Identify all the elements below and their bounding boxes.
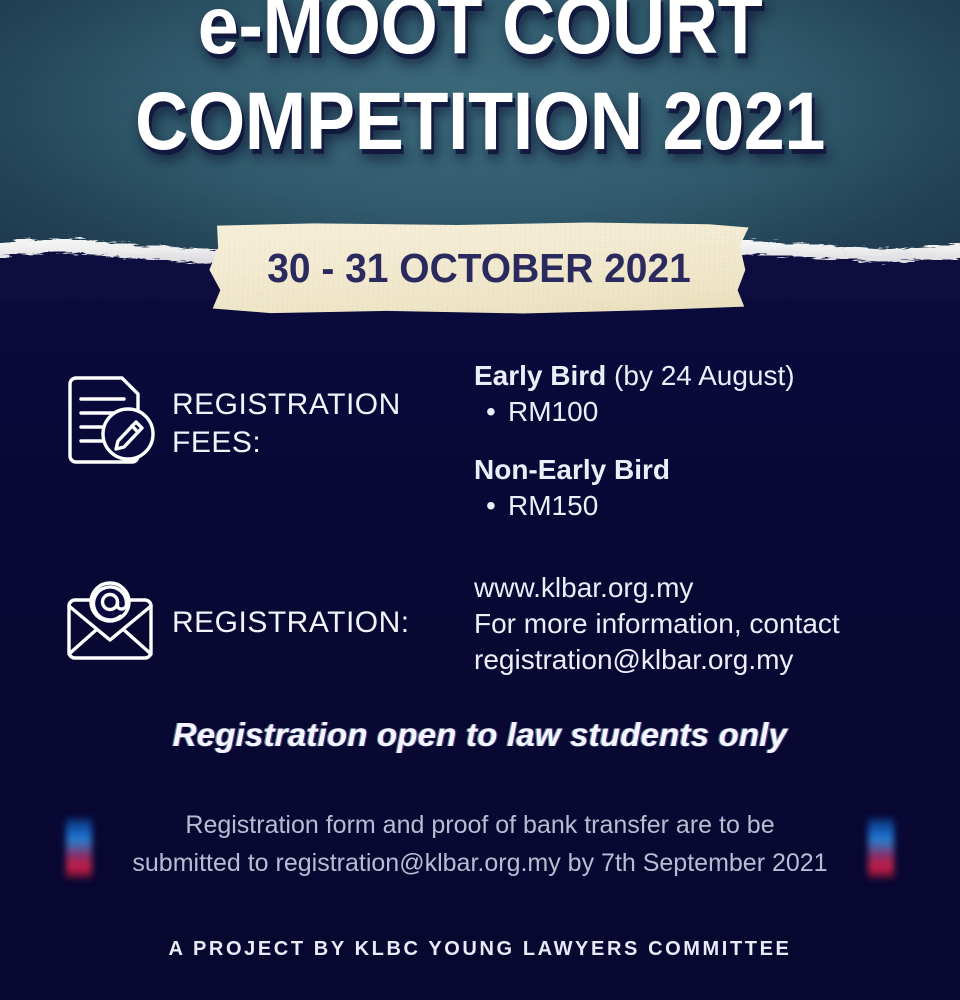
registration-fees-label-group: REGISTRATION FEES: xyxy=(62,372,401,476)
title-line-2: COMPETITION 2021 xyxy=(48,74,912,170)
fees-spacer xyxy=(474,430,795,452)
registration-label-group: REGISTRATION: xyxy=(62,578,410,668)
non-early-bird-label: Non-Early Bird xyxy=(474,452,795,488)
fees-details: Early Bird (by 24 August) RM100 Non-Earl… xyxy=(474,358,795,524)
date-banner: 30 - 31 OCTOBER 2021 xyxy=(205,222,753,314)
right-gradient-bar-decoration xyxy=(868,818,894,878)
footer-credit: A PROJECT BY KLBC YOUNG LAWYERS COMMITTE… xyxy=(0,938,960,961)
early-bird-price: RM100 xyxy=(474,394,795,430)
registration-contact-prompt: For more information, contact xyxy=(474,606,840,642)
submission-note: Registration form and proof of bank tran… xyxy=(0,806,960,882)
poster: e-MOOT COURT COMPETITION 2021 30 - 31 OC… xyxy=(0,0,960,1000)
registration-website[interactable]: www.klbar.org.my xyxy=(474,570,840,606)
early-bird-label: Early Bird xyxy=(474,360,606,391)
submission-note-line-2: submitted to registration@klbar.org.my b… xyxy=(0,844,960,882)
document-pencil-icon xyxy=(62,372,158,476)
envelope-at-icon xyxy=(62,578,158,668)
registration-fees-row: REGISTRATION FEES: xyxy=(62,372,401,476)
registration-row: REGISTRATION: xyxy=(62,578,410,668)
early-bird-line: Early Bird (by 24 August) xyxy=(474,360,795,391)
submission-note-line-1: Registration form and proof of bank tran… xyxy=(0,806,960,844)
registration-email[interactable]: registration@klbar.org.my xyxy=(474,642,840,678)
title-line-1: e-MOOT COURT xyxy=(48,0,912,74)
registration-fees-label: REGISTRATION FEES: xyxy=(172,386,401,462)
registration-label: REGISTRATION: xyxy=(172,604,410,642)
date-banner-text: 30 - 31 OCTOBER 2021 xyxy=(219,222,740,314)
page-title: e-MOOT COURT COMPETITION 2021 xyxy=(48,0,912,170)
early-bird-deadline: (by 24 August) xyxy=(606,360,794,391)
tagline: Registration open to law students only xyxy=(0,716,960,754)
left-gradient-bar-decoration xyxy=(66,818,92,878)
registration-details: www.klbar.org.my For more information, c… xyxy=(474,570,840,678)
non-early-bird-price: RM150 xyxy=(474,488,795,524)
